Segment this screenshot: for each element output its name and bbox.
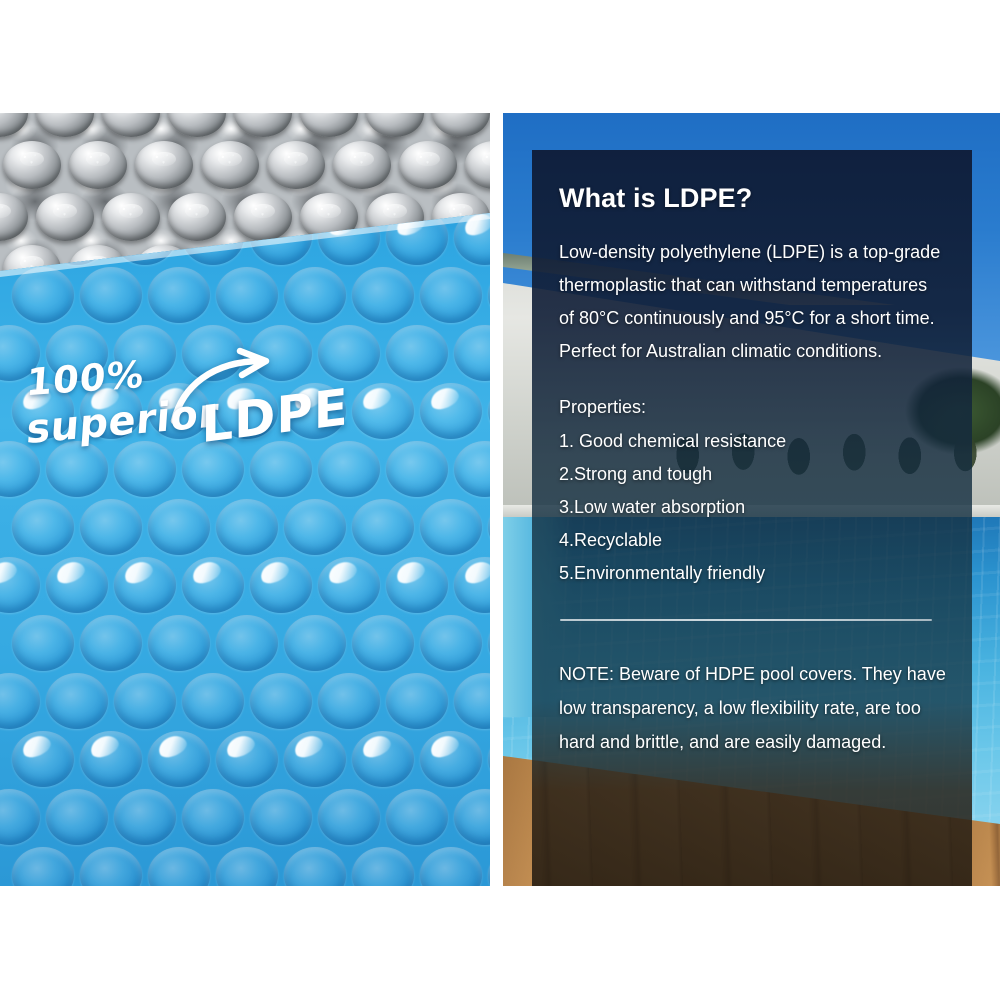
bubble-cell <box>386 789 448 845</box>
bubble-cell <box>250 673 312 729</box>
ldpe-info-card: What is LDPE? Low-density polyethylene (… <box>532 150 972 886</box>
bubble-cell <box>352 731 414 787</box>
bubble-cell <box>366 113 424 137</box>
bubble-cell <box>80 615 142 671</box>
bubble-cell <box>386 557 448 613</box>
bubble-cell <box>216 615 278 671</box>
bubble-cell <box>420 499 482 555</box>
bubble-cell <box>80 731 142 787</box>
bubble-cell <box>352 499 414 555</box>
bubble-cell <box>168 193 226 241</box>
bubble-cell <box>267 141 325 189</box>
bubble-cell <box>201 141 259 189</box>
property-item: 5.Environmentally friendly <box>559 557 946 590</box>
bubble-cell <box>3 141 61 189</box>
bubble-cell <box>148 499 210 555</box>
bubble-cell <box>114 441 176 497</box>
bubble-cell <box>420 383 482 439</box>
bubble-cell <box>234 193 292 241</box>
bubble-cell <box>148 267 210 323</box>
bubble-cell <box>386 325 448 381</box>
bubble-cell <box>216 731 278 787</box>
bubble-cell <box>318 441 380 497</box>
bubble-cell <box>216 499 278 555</box>
property-item: 3.Low water absorption <box>559 491 946 524</box>
bubble-cell <box>182 557 244 613</box>
bubble-cell <box>352 383 414 439</box>
property-item: 1. Good chemical resistance <box>559 425 946 458</box>
bubble-cell <box>69 141 127 189</box>
bubble-cell <box>182 673 244 729</box>
right-info-image: What is LDPE? Low-density polyethylene (… <box>503 113 1000 886</box>
card-note: NOTE: Beware of HDPE pool covers. They h… <box>559 657 946 759</box>
bubble-cell <box>102 193 160 241</box>
bubble-cell <box>352 267 414 323</box>
bubble-cell <box>0 113 28 137</box>
bubble-cell <box>46 673 108 729</box>
bubble-cell <box>114 789 176 845</box>
bubble-cell <box>148 731 210 787</box>
bubble-cell <box>12 731 74 787</box>
bubble-cell <box>80 267 142 323</box>
bubble-cell <box>284 731 346 787</box>
bubble-cell <box>352 615 414 671</box>
bubble-cell <box>102 113 160 137</box>
bubble-cell <box>168 113 226 137</box>
bubble-cell <box>250 789 312 845</box>
bubble-cell <box>318 673 380 729</box>
bubble-cell <box>318 557 380 613</box>
properties-label: Properties: <box>559 392 946 423</box>
bubble-cell <box>333 141 391 189</box>
bubble-cell <box>420 615 482 671</box>
bubble-cell <box>399 141 457 189</box>
bubble-cell <box>46 789 108 845</box>
bubble-cell <box>250 441 312 497</box>
handwritten-overlay: 100% superior LDPE <box>26 353 346 436</box>
bubble-cell <box>114 557 176 613</box>
left-product-image: 100% superior LDPE <box>0 113 490 886</box>
bubble-cell <box>284 615 346 671</box>
bubble-cell <box>318 789 380 845</box>
bubble-cell <box>250 557 312 613</box>
bubble-cell <box>12 499 74 555</box>
bubble-cell <box>432 113 490 137</box>
bubble-cell <box>234 113 292 137</box>
bubble-cell <box>216 267 278 323</box>
bubble-cell <box>420 267 482 323</box>
page-canvas: 100% superior LDPE What is LDPE? Low-den… <box>0 0 1000 1000</box>
bubble-cell <box>420 731 482 787</box>
bubble-cell <box>386 673 448 729</box>
bubble-cell <box>284 267 346 323</box>
bubble-cell <box>386 441 448 497</box>
card-description: Low-density polyethylene (LDPE) is a top… <box>559 236 946 368</box>
bubble-cell <box>114 673 176 729</box>
property-item: 2.Strong and tough <box>559 458 946 491</box>
bubble-cell <box>284 499 346 555</box>
bubble-cell <box>182 789 244 845</box>
bubble-cell <box>80 499 142 555</box>
bubble-cell <box>46 557 108 613</box>
bubble-cell <box>0 193 28 241</box>
bubble-cell <box>300 113 358 137</box>
properties-list: 1. Good chemical resistance2.Strong and … <box>559 425 946 590</box>
bubble-cell <box>12 615 74 671</box>
bubble-cell <box>135 141 193 189</box>
bubble-cell <box>12 267 74 323</box>
bubble-cell <box>465 141 490 189</box>
property-item: 4.Recyclable <box>559 524 946 557</box>
section-divider <box>560 619 932 621</box>
bubble-cell <box>36 113 94 137</box>
bubble-cell <box>148 615 210 671</box>
bubble-cell <box>36 193 94 241</box>
card-title: What is LDPE? <box>559 184 946 214</box>
